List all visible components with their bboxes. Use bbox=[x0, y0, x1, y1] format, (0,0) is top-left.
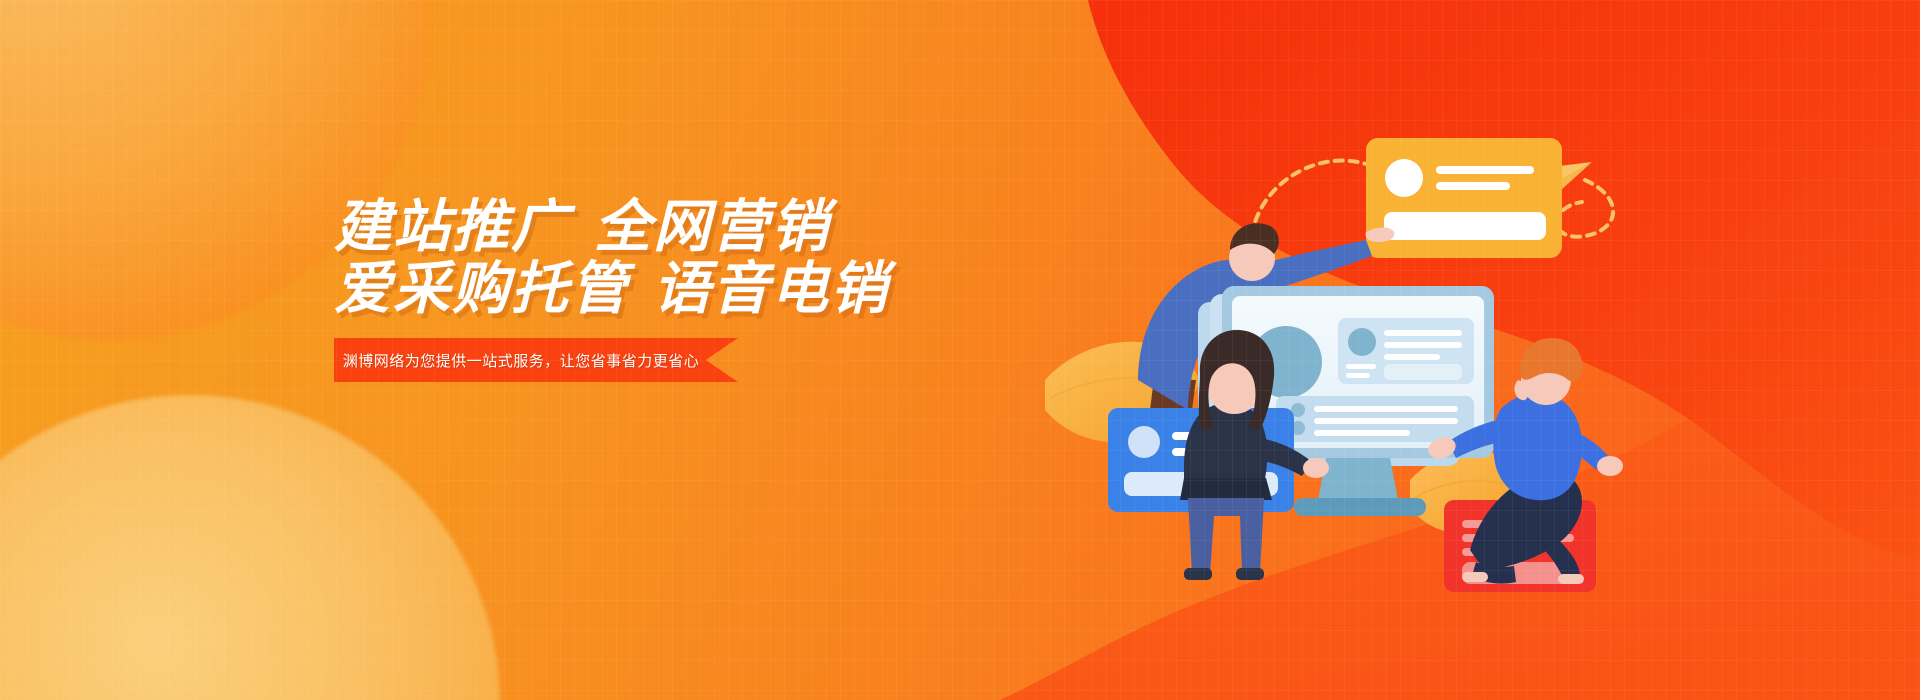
headline-line2-part2: 语音电销 bbox=[653, 257, 889, 321]
headline-line1-part1: 建站推广 bbox=[334, 195, 570, 259]
dashed-path-right bbox=[1557, 180, 1613, 237]
yellow-card bbox=[1366, 138, 1562, 258]
tagline-text: 渊博网络为您提供一站式服务，让您省事省力更省心 bbox=[334, 338, 738, 382]
headline-line-2: 爱采购托管语音电销 bbox=[334, 258, 1094, 320]
headline-line-1: 建站推广全网营销 bbox=[334, 196, 1094, 258]
headline-block: 建站推广全网营销 爱采购托管语音电销 bbox=[334, 196, 1094, 320]
headline-line1-part2: 全网营销 bbox=[594, 195, 830, 259]
monitor-base bbox=[1294, 498, 1426, 516]
monitor-stand bbox=[1318, 458, 1398, 500]
headline-line2-part1: 爱采购托管 bbox=[334, 257, 629, 321]
illustration bbox=[1080, 80, 1640, 620]
background-blob-bottom-left bbox=[0, 395, 500, 700]
promo-banner: 建站推广全网营销 爱采购托管语音电销 渊博网络为您提供一站式服务，让您省事省力更… bbox=[0, 0, 1920, 700]
